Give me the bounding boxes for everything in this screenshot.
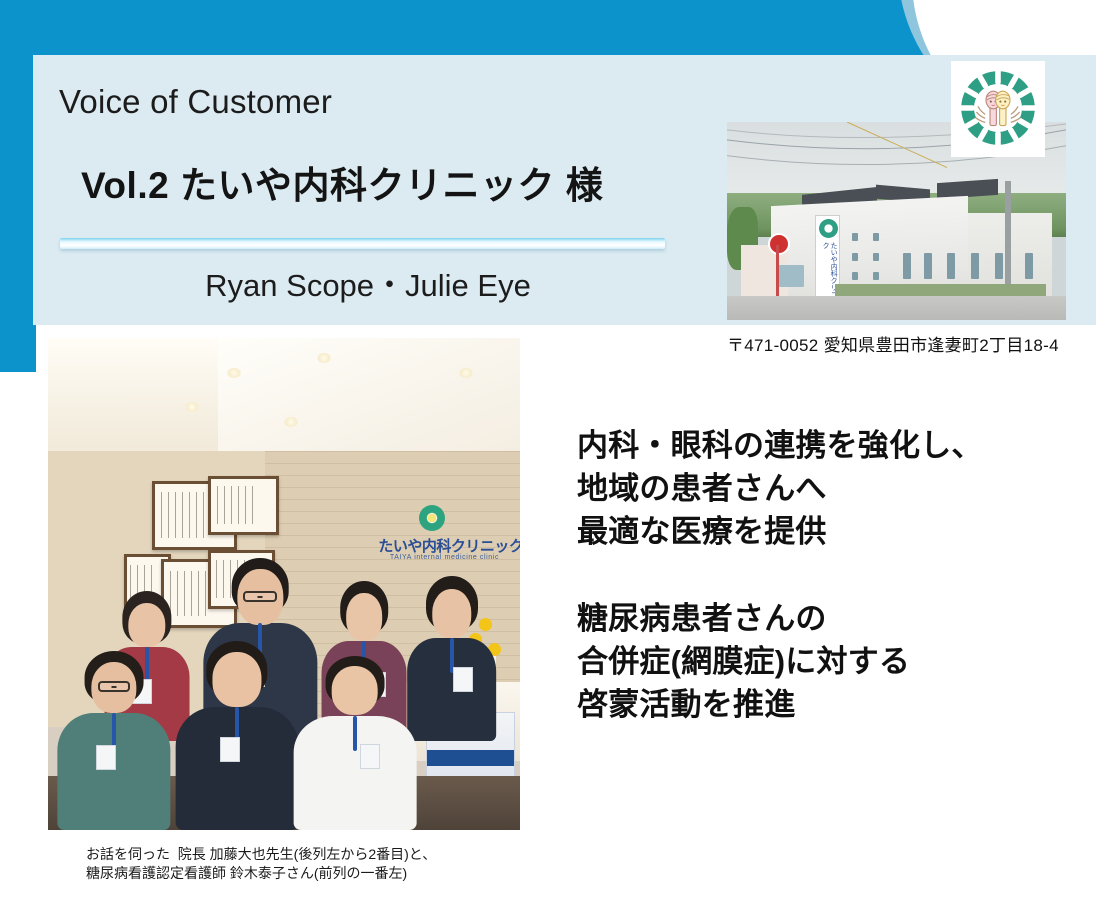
window — [1025, 253, 1033, 279]
clinic-logo-mark — [419, 505, 445, 531]
header-panel: Voice of Customer Vol.2 たいや内科クリニック 様 Rya… — [33, 55, 1096, 325]
window-small — [852, 272, 858, 280]
glasses-icon — [98, 681, 130, 692]
face — [432, 589, 471, 638]
wreath-icon — [958, 67, 1038, 149]
downlight — [317, 353, 331, 363]
window-small — [873, 233, 879, 241]
clinic-sign-jp: たいや内科クリニック — [378, 535, 510, 556]
message-line: 最適な医療を提供 — [577, 510, 1077, 553]
face — [128, 603, 165, 647]
clinic-address: 〒471-0052 愛知県豊田市逢妻町2丁目18-4 — [727, 331, 1059, 356]
face — [346, 593, 382, 640]
page-subtitle: Ryan Scope・Julie Eye — [133, 260, 603, 305]
clinic-logo — [951, 61, 1045, 157]
page-title-en: Voice of Customer — [59, 83, 332, 121]
message-line: 合併症(網膜症)に対する — [577, 640, 1077, 683]
window — [971, 253, 979, 279]
name-badge — [220, 737, 240, 762]
name-badge — [360, 744, 380, 769]
photo-caption: お話を伺った 院長 加藤大也先生(後列左から2番目)と、 糖尿病看護認定看護師 … — [86, 845, 436, 883]
message-line: 糖尿病患者さんの — [577, 597, 1077, 640]
message-line: 啓蒙活動を推進 — [577, 683, 1077, 726]
staff-group-photo: たいや内科クリニック TAIYA internal medicine clini… — [48, 338, 520, 830]
window-small — [873, 272, 879, 280]
window — [924, 253, 932, 279]
downlight — [284, 417, 298, 427]
face — [331, 666, 378, 714]
staff-member — [293, 658, 416, 830]
message-line: 地域の患者さんへ — [577, 467, 1077, 510]
window — [995, 253, 1003, 279]
page-title-jp: Vol.2 たいや内科クリニック 様 — [81, 155, 603, 209]
name-badge — [96, 745, 116, 770]
window-small — [852, 233, 858, 241]
message-block-1: 内科・眼科の連携を強化し、 地域の患者さんへ 最適な医療を提供 — [577, 424, 1077, 553]
message-spacer — [577, 553, 1077, 597]
message-block-2: 糖尿病患者さんの 合併症(網膜症)に対する 啓蒙活動を推進 — [577, 597, 1077, 726]
lanyard — [353, 716, 357, 750]
parking-lot — [727, 296, 1066, 320]
staff-member — [407, 579, 497, 741]
window — [903, 253, 911, 279]
window-small — [852, 253, 858, 261]
staff-member-nurse — [57, 653, 170, 830]
downlight — [227, 368, 241, 378]
glasses-icon — [243, 591, 277, 602]
downlight — [459, 368, 473, 378]
title-divider — [60, 238, 665, 249]
slide-root: Voice of Customer Vol.2 たいや内科クリニック 様 Rya… — [0, 0, 1096, 897]
window — [947, 253, 955, 279]
staff-member — [175, 643, 298, 830]
window-small — [873, 253, 879, 261]
message-area: 内科・眼科の連携を強化し、 地域の患者さんへ 最適な医療を提供 糖尿病患者さんの… — [577, 424, 1077, 726]
downlight — [185, 402, 199, 412]
name-badge — [453, 667, 473, 692]
clinic-sign-en: TAIYA internal medicine clinic — [378, 554, 510, 561]
framed-certificate — [208, 476, 279, 535]
clinic-logo-small — [819, 219, 838, 238]
lanyard — [112, 713, 116, 748]
message-line: 内科・眼科の連携を強化し、 — [577, 424, 1077, 467]
face — [212, 652, 261, 706]
entrance-glass — [778, 265, 804, 287]
